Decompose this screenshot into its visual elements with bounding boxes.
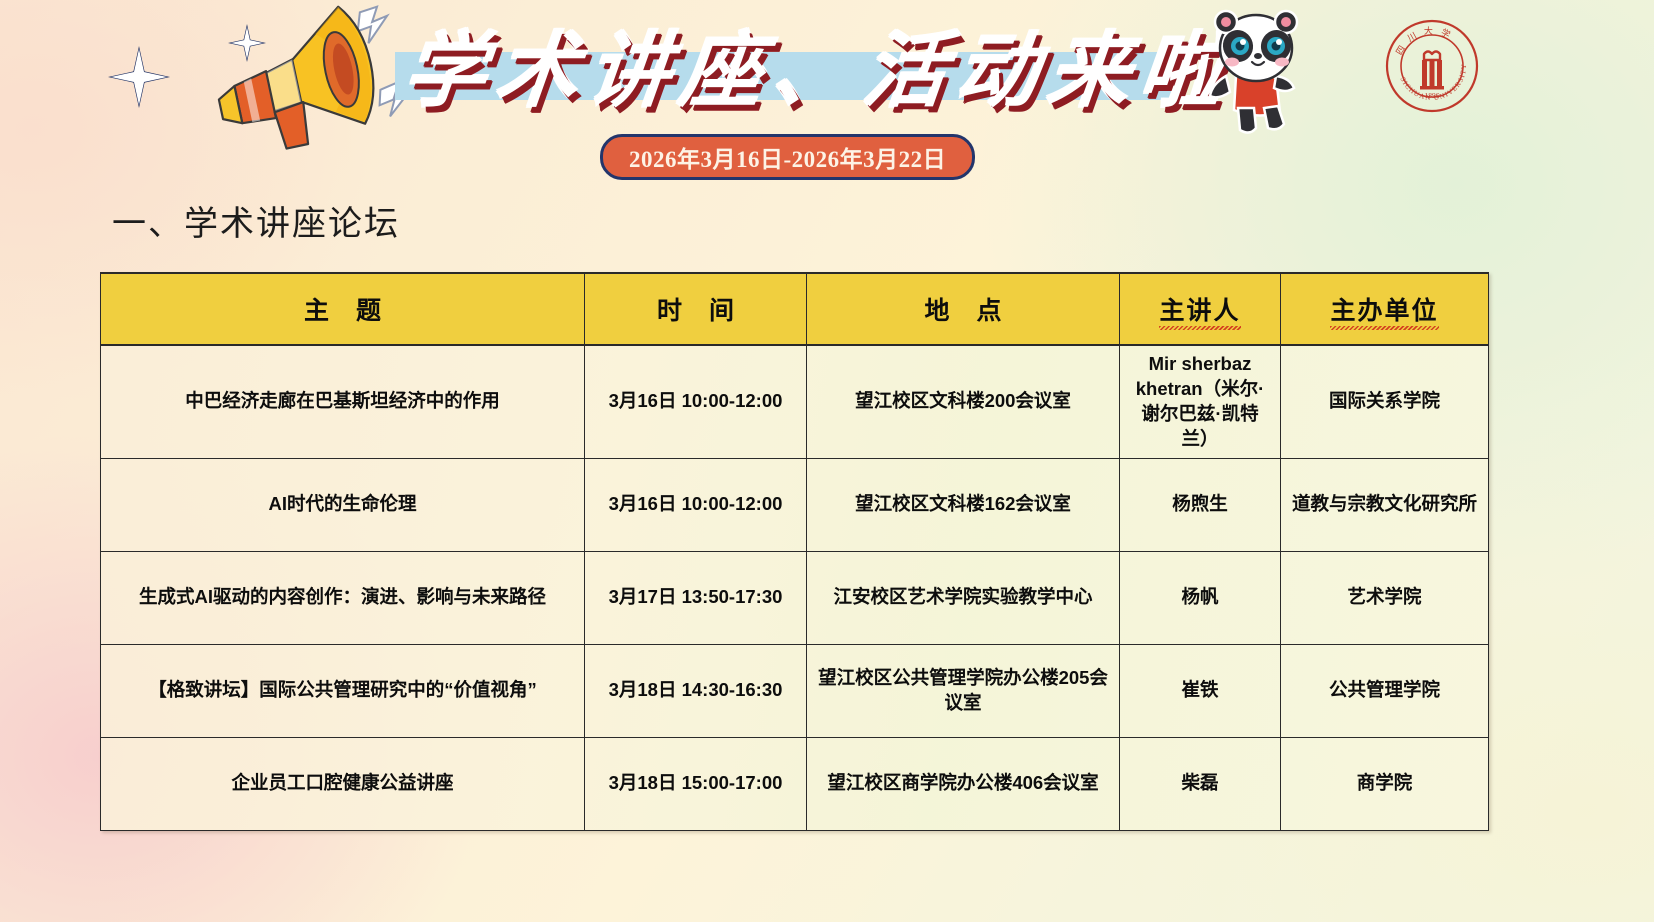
cell-time: 3月16日 10:00-12:00	[585, 345, 807, 458]
sparkle-star-icon	[108, 46, 170, 108]
schedule-table: 主 题 时 间 地 点 主讲人 主办单位	[100, 272, 1489, 831]
cell-organizer: 艺术学院	[1281, 551, 1489, 644]
cell-topic: 中巴经济走廊在巴基斯坦经济中的作用	[101, 345, 585, 458]
column-header-organizer: 主办单位	[1281, 273, 1489, 345]
cell-place: 江安校区艺术学院实验教学中心	[807, 551, 1120, 644]
cell-speaker: Mir sherbaz khetran（米尔·谢尔巴兹·凯特兰）	[1120, 345, 1281, 458]
cell-organizer: 国际关系学院	[1281, 345, 1489, 458]
column-header-organizer-label: 主办单位	[1330, 297, 1438, 325]
column-header-time-label: 时 间	[647, 297, 744, 325]
panda-mascot-icon	[1196, 4, 1316, 142]
megaphone-icon	[176, 2, 426, 152]
cell-place: 望江校区文科楼162会议室	[807, 458, 1120, 551]
cell-place: 望江校区公共管理学院办公楼205会议室	[807, 644, 1120, 737]
cell-organizer: 道教与宗教文化研究所	[1281, 458, 1489, 551]
cell-place: 望江校区文科楼200会议室	[807, 345, 1120, 458]
schedule-table-wrapper: 主 题 时 间 地 点 主讲人 主办单位	[100, 272, 1488, 831]
cell-time: 3月17日 13:50-17:30	[585, 551, 807, 644]
cell-speaker: 柴磊	[1120, 737, 1281, 830]
cell-time: 3月18日 15:00-17:00	[585, 737, 807, 830]
cell-organizer: 公共管理学院	[1281, 644, 1489, 737]
poster-canvas: 学术讲座、活动来啦 2026年3月16日-2026年3月22日	[0, 0, 1654, 922]
cell-time: 3月16日 10:00-12:00	[585, 458, 807, 551]
table-row: 企业员工口腔健康公益讲座 3月18日 15:00-17:00 望江校区商学院办公…	[101, 737, 1489, 830]
column-header-time: 时 间	[585, 273, 807, 345]
sichuan-university-logo: 1896 SICHUAN UNIVERSITY 四川大学	[1384, 18, 1480, 114]
table-row: AI时代的生命伦理 3月16日 10:00-12:00 望江校区文科楼162会议…	[101, 458, 1489, 551]
column-header-place-label: 地 点	[915, 297, 1012, 325]
cell-topic: 生成式AI驱动的内容创作：演进、影响与未来路径	[101, 551, 585, 644]
cell-speaker: 杨煦生	[1120, 458, 1281, 551]
date-range-badge: 2026年3月16日-2026年3月22日	[600, 134, 975, 180]
column-header-speaker: 主讲人	[1120, 273, 1281, 345]
section-heading: 一、学术讲座论坛	[112, 196, 400, 245]
cell-place: 望江校区商学院办公楼406会议室	[807, 737, 1120, 830]
cell-speaker: 崔铁	[1120, 644, 1281, 737]
cell-time: 3月18日 14:30-16:30	[585, 644, 807, 737]
table-header-row: 主 题 时 间 地 点 主讲人 主办单位	[101, 273, 1489, 345]
table-body: 中巴经济走廊在巴基斯坦经济中的作用 3月16日 10:00-12:00 望江校区…	[101, 345, 1489, 830]
page-title: 学术讲座、活动来啦	[398, 18, 1169, 126]
cell-organizer: 商学院	[1281, 737, 1489, 830]
cell-speaker: 杨帆	[1120, 551, 1281, 644]
column-header-topic-label: 主 题	[294, 297, 391, 325]
cell-topic: AI时代的生命伦理	[101, 458, 585, 551]
table-row: 中巴经济走廊在巴基斯坦经济中的作用 3月16日 10:00-12:00 望江校区…	[101, 345, 1489, 458]
table-row: 【格致讲坛】国际公共管理研究中的“价值视角” 3月18日 14:30-16:30…	[101, 644, 1489, 737]
column-header-speaker-label: 主讲人	[1159, 297, 1240, 325]
column-header-place: 地 点	[807, 273, 1120, 345]
table-row: 生成式AI驱动的内容创作：演进、影响与未来路径 3月17日 13:50-17:3…	[101, 551, 1489, 644]
cell-topic: 【格致讲坛】国际公共管理研究中的“价值视角”	[101, 644, 585, 737]
cell-topic: 企业员工口腔健康公益讲座	[101, 737, 585, 830]
column-header-topic: 主 题	[101, 273, 585, 345]
